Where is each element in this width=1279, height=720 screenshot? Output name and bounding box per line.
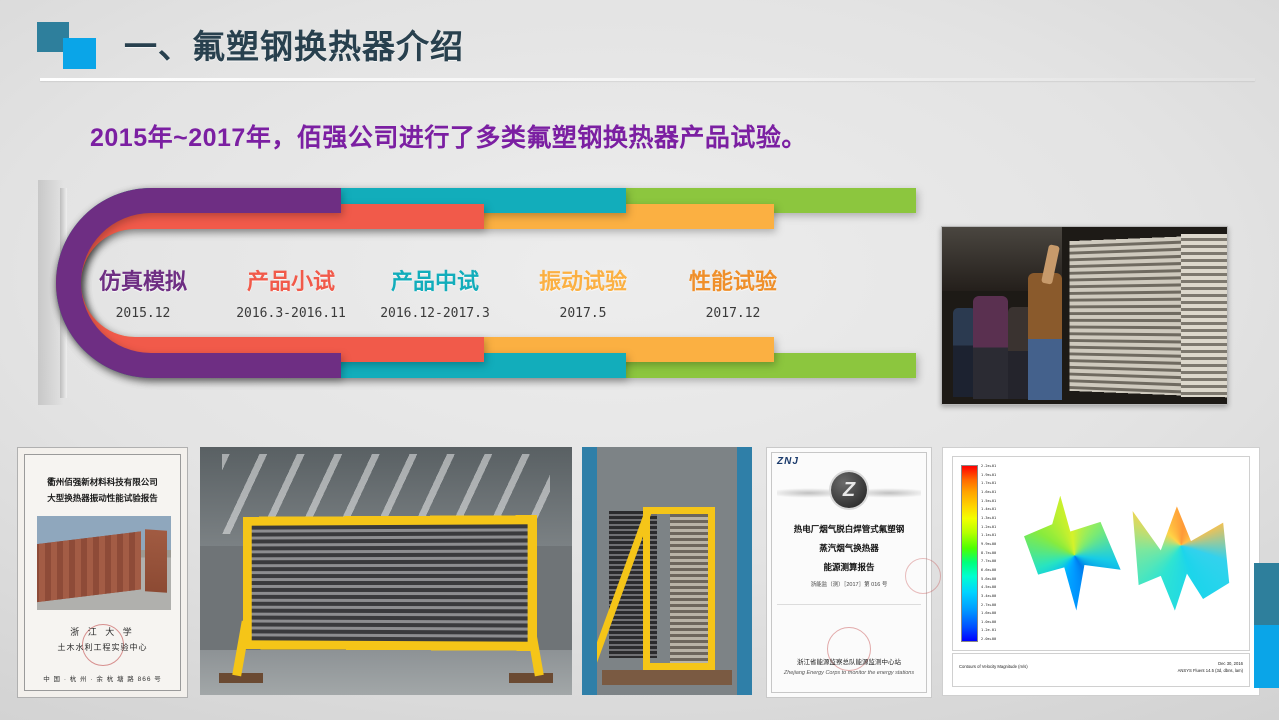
cfd-surface-right: [1131, 499, 1232, 615]
cfd-colorbar-legend: 2.2e+01 1.9e+01 1.7e+01 1.6e+01 1.5e+01 …: [961, 465, 1007, 642]
edge-accent-bright: [1254, 625, 1279, 688]
zju-report-heading: 衢州佰强新材料科技有限公司 大型换热器振动性能试验报告: [18, 474, 187, 506]
zju-issuer: 浙 江 大 学 土木水利工程实验中心: [18, 624, 187, 656]
subtitle-text: 2015年~2017年，佰强公司进行了多类氟塑钢换热器产品试验。: [90, 118, 807, 154]
znj-emblem-icon: Z: [831, 472, 867, 508]
photo-vibration-rig-side: [582, 447, 752, 695]
zju-building-photo: [37, 516, 171, 610]
znj-side-seal-icon: [905, 558, 941, 594]
stage-name: 振动试验: [508, 264, 658, 296]
stage-name: 仿真模拟: [68, 264, 218, 296]
slide-canvas: 一、氟塑钢换热器介绍 2015年~2017年，佰强公司进行了多类氟塑钢换热器产品…: [0, 0, 1279, 720]
stage-date: 2016.3-2016.11: [216, 306, 366, 321]
photo-site-inspection: [941, 226, 1228, 405]
photo-report-zju-cover: 衢州佰强新材料科技有限公司 大型换热器振动性能试验报告 浙 江 大 学 土木水利…: [17, 447, 188, 698]
stage-name: 产品中试: [360, 264, 510, 296]
cfd-plot-area: 2.2e+01 1.9e+01 1.7e+01 1.6e+01 1.5e+01 …: [952, 456, 1250, 651]
znj-issuer: 浙江省能源监察总队能源监测中心站 Zhejiang Energy Corps t…: [767, 657, 931, 679]
cfd-caption-left: Contours of Velocity Magnitude (m/s): [959, 664, 1028, 669]
page-title: 一、氟塑钢换热器介绍: [124, 20, 464, 68]
timeline-stage-4: 振动试验 2017.5: [508, 264, 658, 321]
header-square-bright-icon: [63, 38, 96, 69]
photo-cfd-contour-plot: 2.2e+01 1.9e+01 1.7e+01 1.6e+01 1.5e+01 …: [942, 447, 1260, 696]
stage-name: 性能试验: [658, 264, 808, 296]
zju-address: 中 国 · 杭 州 · 余 杭 塘 路 866 号: [18, 673, 187, 683]
znj-logo: ZNJ: [777, 456, 799, 467]
photo-vibration-rig-front: [200, 447, 572, 695]
timeline-stage-5: 性能试验 2017.12: [658, 264, 808, 321]
timeline-stage-1: 仿真模拟 2015.12: [68, 264, 218, 321]
timeline-stage-3: 产品中试 2016.12-2017.3: [360, 264, 510, 321]
stage-date: 2017.5: [508, 306, 658, 321]
stage-date: 2017.12: [658, 306, 808, 321]
cfd-surface-left: [1024, 496, 1125, 616]
cfd-colorbar-ticks: 2.2e+01 1.9e+01 1.7e+01 1.6e+01 1.5e+01 …: [981, 465, 1007, 642]
cfd-caption-bar: Contours of Velocity Magnitude (m/s) Dec…: [952, 653, 1250, 687]
cfd-caption-right: Dec 30, 2016 ANSYS Fluent 14.5 (3d, dbns…: [1178, 660, 1243, 674]
header-divider: [40, 78, 1255, 81]
cfd-colorbar: [961, 465, 978, 642]
timeline-stage-2: 产品小试 2016.3-2016.11: [216, 264, 366, 321]
photo-report-znj-cover: ZNJ Z 热电厂烟气脱白焊管式氟塑钢 蒸汽烟气换热器 能源测算报告 浙能监（测…: [766, 447, 932, 698]
stage-date: 2016.12-2017.3: [360, 306, 510, 321]
process-timeline-diagram: 仿真模拟 2015.12 产品小试 2016.3-2016.11 产品中试 20…: [38, 180, 928, 405]
stage-name: 产品小试: [216, 264, 366, 296]
stage-date: 2015.12: [68, 306, 218, 321]
edge-accent-dark: [1254, 563, 1279, 625]
